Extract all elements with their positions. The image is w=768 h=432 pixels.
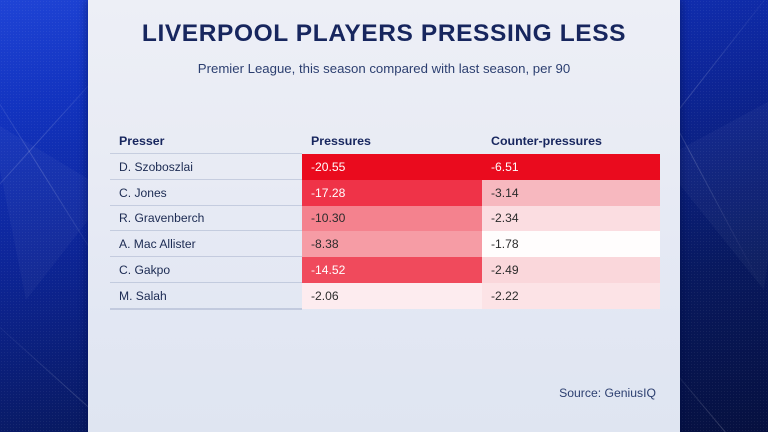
column-header-counter-pressures: Counter-pressures <box>482 128 660 154</box>
table-row: D. Szoboszlai -20.55 -6.51 <box>110 154 660 180</box>
table-row: C. Gakpo -14.52 -2.49 <box>110 257 660 283</box>
cell-pressures: -10.30 <box>302 206 482 232</box>
cell-presser: C. Gakpo <box>110 257 302 283</box>
cell-counter-pressures: -3.14 <box>482 180 660 206</box>
column-header-presser: Presser <box>110 128 302 154</box>
table-row: R. Gravenberch -10.30 -2.34 <box>110 206 660 232</box>
cell-pressures: -20.55 <box>302 154 482 180</box>
cell-counter-pressures: -1.78 <box>482 231 660 257</box>
column-header-pressures: Pressures <box>302 128 482 154</box>
table-row: C. Jones -17.28 -3.14 <box>110 180 660 206</box>
table-row: A. Mac Allister -8.38 -1.78 <box>110 231 660 257</box>
content-panel: LIVERPOOL PLAYERS PRESSING LESS Premier … <box>88 0 680 432</box>
page-subtitle: Premier League, this season compared wit… <box>88 61 680 76</box>
table-bottom-rule <box>110 309 302 310</box>
pressing-stats-table: Presser Pressures Counter-pressures D. S… <box>110 128 660 309</box>
cell-pressures: -17.28 <box>302 180 482 206</box>
table-row: M. Salah -2.06 -2.22 <box>110 283 660 309</box>
cell-counter-pressures: -6.51 <box>482 154 660 180</box>
source-credit: Source: GeniusIQ <box>559 386 656 400</box>
cell-counter-pressures: -2.22 <box>482 283 660 309</box>
cell-presser: R. Gravenberch <box>110 206 302 232</box>
broadcast-graphic: LIVERPOOL PLAYERS PRESSING LESS Premier … <box>0 0 768 432</box>
cell-presser: C. Jones <box>110 180 302 206</box>
table-header-row: Presser Pressures Counter-pressures <box>110 128 660 154</box>
page-title: LIVERPOOL PLAYERS PRESSING LESS <box>88 20 680 48</box>
cell-counter-pressures: -2.34 <box>482 206 660 232</box>
cell-presser: A. Mac Allister <box>110 231 302 257</box>
cell-pressures: -2.06 <box>302 283 482 309</box>
cell-presser: M. Salah <box>110 283 302 309</box>
cell-counter-pressures: -2.49 <box>482 257 660 283</box>
cell-pressures: -14.52 <box>302 257 482 283</box>
cell-presser: D. Szoboszlai <box>110 154 302 180</box>
cell-pressures: -8.38 <box>302 231 482 257</box>
